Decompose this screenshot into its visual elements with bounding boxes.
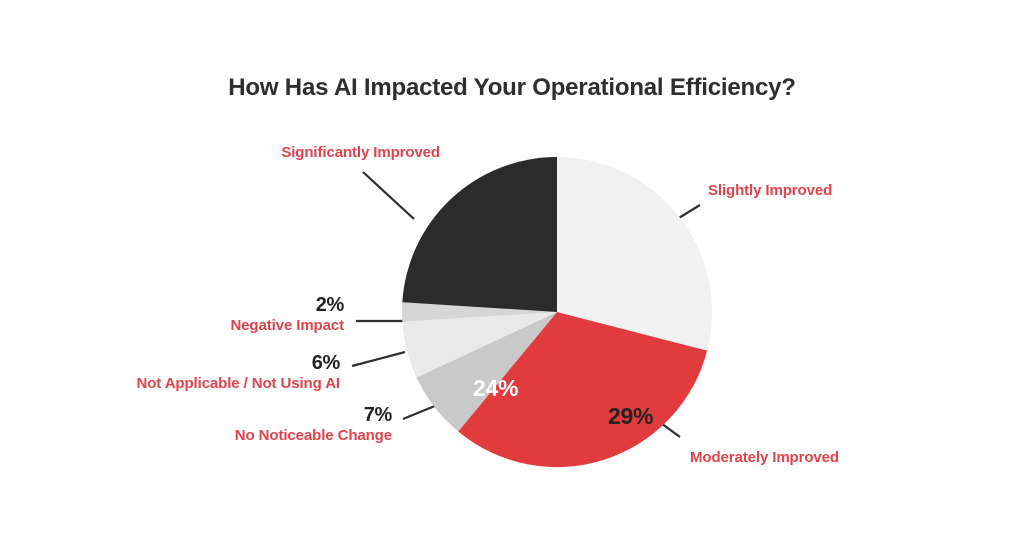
- callout-label-moderately-improved: Moderately Improved: [690, 449, 839, 466]
- callout-moderately-improved[interactable]: Moderately Improved: [690, 449, 839, 466]
- callout-no-noticeable-change[interactable]: 7% No Noticeable Change: [0, 404, 392, 444]
- callout-label-not-applicable: Not Applicable / Not Using AI: [0, 375, 340, 392]
- slice-value-moderately-improved: 32%: [552, 528, 597, 555]
- pie-slices: [380, 150, 720, 490]
- callout-label-no-noticeable-change: No Noticeable Change: [0, 427, 392, 444]
- callout-slightly-improved[interactable]: Slightly Improved: [708, 182, 832, 199]
- callout-label-slightly-improved: Slightly Improved: [708, 182, 832, 199]
- chart-canvas: How Has AI Impacted Your Operational Eff…: [0, 0, 1024, 555]
- slice-value-significantly-improved: 24%: [473, 375, 518, 402]
- callout-percent-no-noticeable-change: 7%: [0, 404, 392, 427]
- callout-percent-negative-impact: 2%: [0, 294, 344, 317]
- callout-label-significantly-improved: Significantly Improved: [0, 144, 440, 161]
- slice-value-slightly-improved: 29%: [608, 403, 653, 430]
- callout-not-applicable[interactable]: 6% Not Applicable / Not Using AI: [0, 352, 340, 392]
- callout-significantly-improved[interactable]: Significantly Improved: [0, 144, 440, 161]
- callout-negative-impact[interactable]: 2% Negative Impact: [0, 294, 344, 334]
- pie-slice-significantly-improved[interactable]: [402, 157, 557, 312]
- callout-percent-not-applicable: 6%: [0, 352, 340, 375]
- callout-label-negative-impact: Negative Impact: [0, 317, 344, 334]
- pie-chart: 24% 29% 32%: [380, 150, 720, 490]
- page-title: How Has AI Impacted Your Operational Eff…: [0, 74, 1024, 102]
